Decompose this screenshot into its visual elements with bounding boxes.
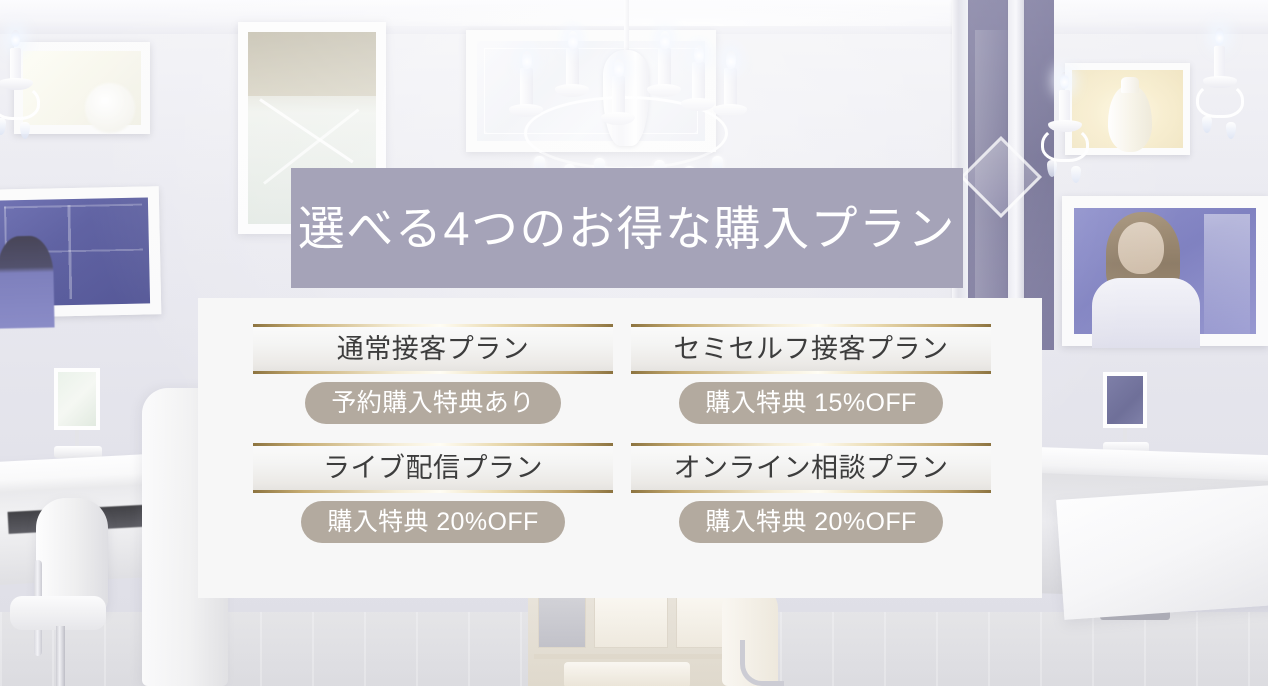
plan-name-box: オンライン相談プラン — [631, 443, 991, 493]
plan-name-label: セミセルフ接客プラン — [674, 336, 949, 363]
plan-card-online-consultation[interactable]: オンライン相談プラン 購入特典 20%OFF — [631, 443, 991, 543]
salon-counter-top — [1056, 484, 1268, 620]
table-mirror-icon — [48, 368, 106, 464]
chandelier-cup — [555, 84, 589, 97]
crystal-drop — [20, 122, 30, 139]
plan-benefit-row: 購入特典 15%OFF — [631, 382, 991, 424]
bench-compartment — [594, 596, 668, 648]
plan-name-label: 通常接客プラン — [337, 336, 530, 363]
bench-cushion — [564, 662, 690, 686]
crystal-drop — [1071, 166, 1081, 183]
framed-picture-icon — [0, 186, 161, 318]
chandelier-candle — [612, 76, 625, 116]
chair-seat — [10, 596, 106, 630]
promo-banner-page: 選べる4つのお得な購入プラン 通常接客プラン 予約購入特典あり セミセルフ接客プ… — [0, 0, 1268, 686]
plan-benefit-badge: 予約購入特典あり — [305, 382, 560, 424]
chair-leg — [740, 640, 784, 686]
sconce-scroll — [1041, 126, 1089, 162]
chandelier-candle — [520, 68, 533, 108]
plans-grid: 通常接客プラン 予約購入特典あり セミセルフ接客プラン 購入特典 15%OFF … — [253, 324, 991, 543]
plan-benefit-row: 購入特典 20%OFF — [253, 501, 613, 543]
plan-name-box: ライブ配信プラン — [253, 443, 613, 493]
framed-photo-icon — [1062, 196, 1268, 346]
sconce-flame — [1215, 28, 1224, 45]
plan-benefit-badge: 購入特典 15%OFF — [679, 382, 942, 424]
table-mirror-icon — [1095, 372, 1159, 458]
photo-highlight — [1204, 214, 1250, 334]
sconce-candle — [1214, 46, 1225, 80]
plan-card-live-stream[interactable]: ライブ配信プラン 購入特典 20%OFF — [253, 443, 613, 543]
wall-sconce-icon — [1190, 20, 1264, 140]
chandelier-candle — [692, 62, 705, 102]
bench-compartment — [538, 596, 586, 648]
chandelier-cup — [713, 104, 747, 117]
sconce-flame — [11, 30, 20, 47]
plan-name-label: ライブ配信プラン — [323, 455, 543, 482]
crystal-drop — [0, 118, 6, 135]
picture-person — [0, 235, 55, 328]
window-shade — [248, 32, 376, 96]
photo-person-body — [1092, 278, 1200, 348]
chair-pole — [56, 626, 65, 686]
chandelier-candle — [566, 48, 579, 88]
page-title: 選べる4つのお得な購入プラン — [298, 205, 956, 252]
plan-name-box: 通常接客プラン — [253, 324, 613, 374]
plan-benefit-row: 予約購入特典あり — [253, 382, 613, 424]
chandelier-cup — [681, 98, 715, 111]
headline-banner: 選べる4つのお得な購入プラン — [291, 168, 963, 288]
chandelier-cup — [647, 84, 681, 97]
photo-person-head — [1118, 222, 1164, 274]
crystal-drop — [1226, 122, 1236, 139]
chandelier-candle — [724, 68, 737, 108]
plan-benefit-badge: 購入特典 20%OFF — [679, 501, 942, 543]
plan-name-label: オンライン相談プラン — [674, 455, 949, 482]
crystal-drop — [1047, 160, 1057, 177]
sconce-candle — [10, 48, 21, 82]
plan-name-box: セミセルフ接客プラン — [631, 324, 991, 374]
sconce-scroll — [1196, 82, 1244, 118]
plan-benefit-row: 購入特典 20%OFF — [631, 501, 991, 543]
plans-panel: 通常接客プラン 予約購入特典あり セミセルフ接客プラン 購入特典 15%OFF … — [198, 298, 1042, 598]
mirror-reflection — [85, 83, 135, 133]
plan-card-semi-self[interactable]: セミセルフ接客プラン 購入特典 15%OFF — [631, 324, 991, 424]
chandelier-candle — [658, 48, 671, 88]
sconce-scroll — [0, 84, 40, 120]
sconce-candle — [1059, 90, 1070, 124]
table-mirror-glass — [54, 368, 100, 430]
table-mirror-glass — [1103, 372, 1147, 428]
crystal-drop — [1202, 116, 1212, 133]
sconce-flame — [1060, 72, 1069, 89]
vase-icon — [1108, 86, 1152, 152]
wall-sconce-icon — [1035, 64, 1109, 184]
wall-sconce-icon — [0, 22, 60, 142]
plan-card-normal[interactable]: 通常接客プラン 予約購入特典あり — [253, 324, 613, 424]
mirror-bevel-line — [259, 98, 354, 163]
plan-benefit-badge: 購入特典 20%OFF — [301, 501, 564, 543]
